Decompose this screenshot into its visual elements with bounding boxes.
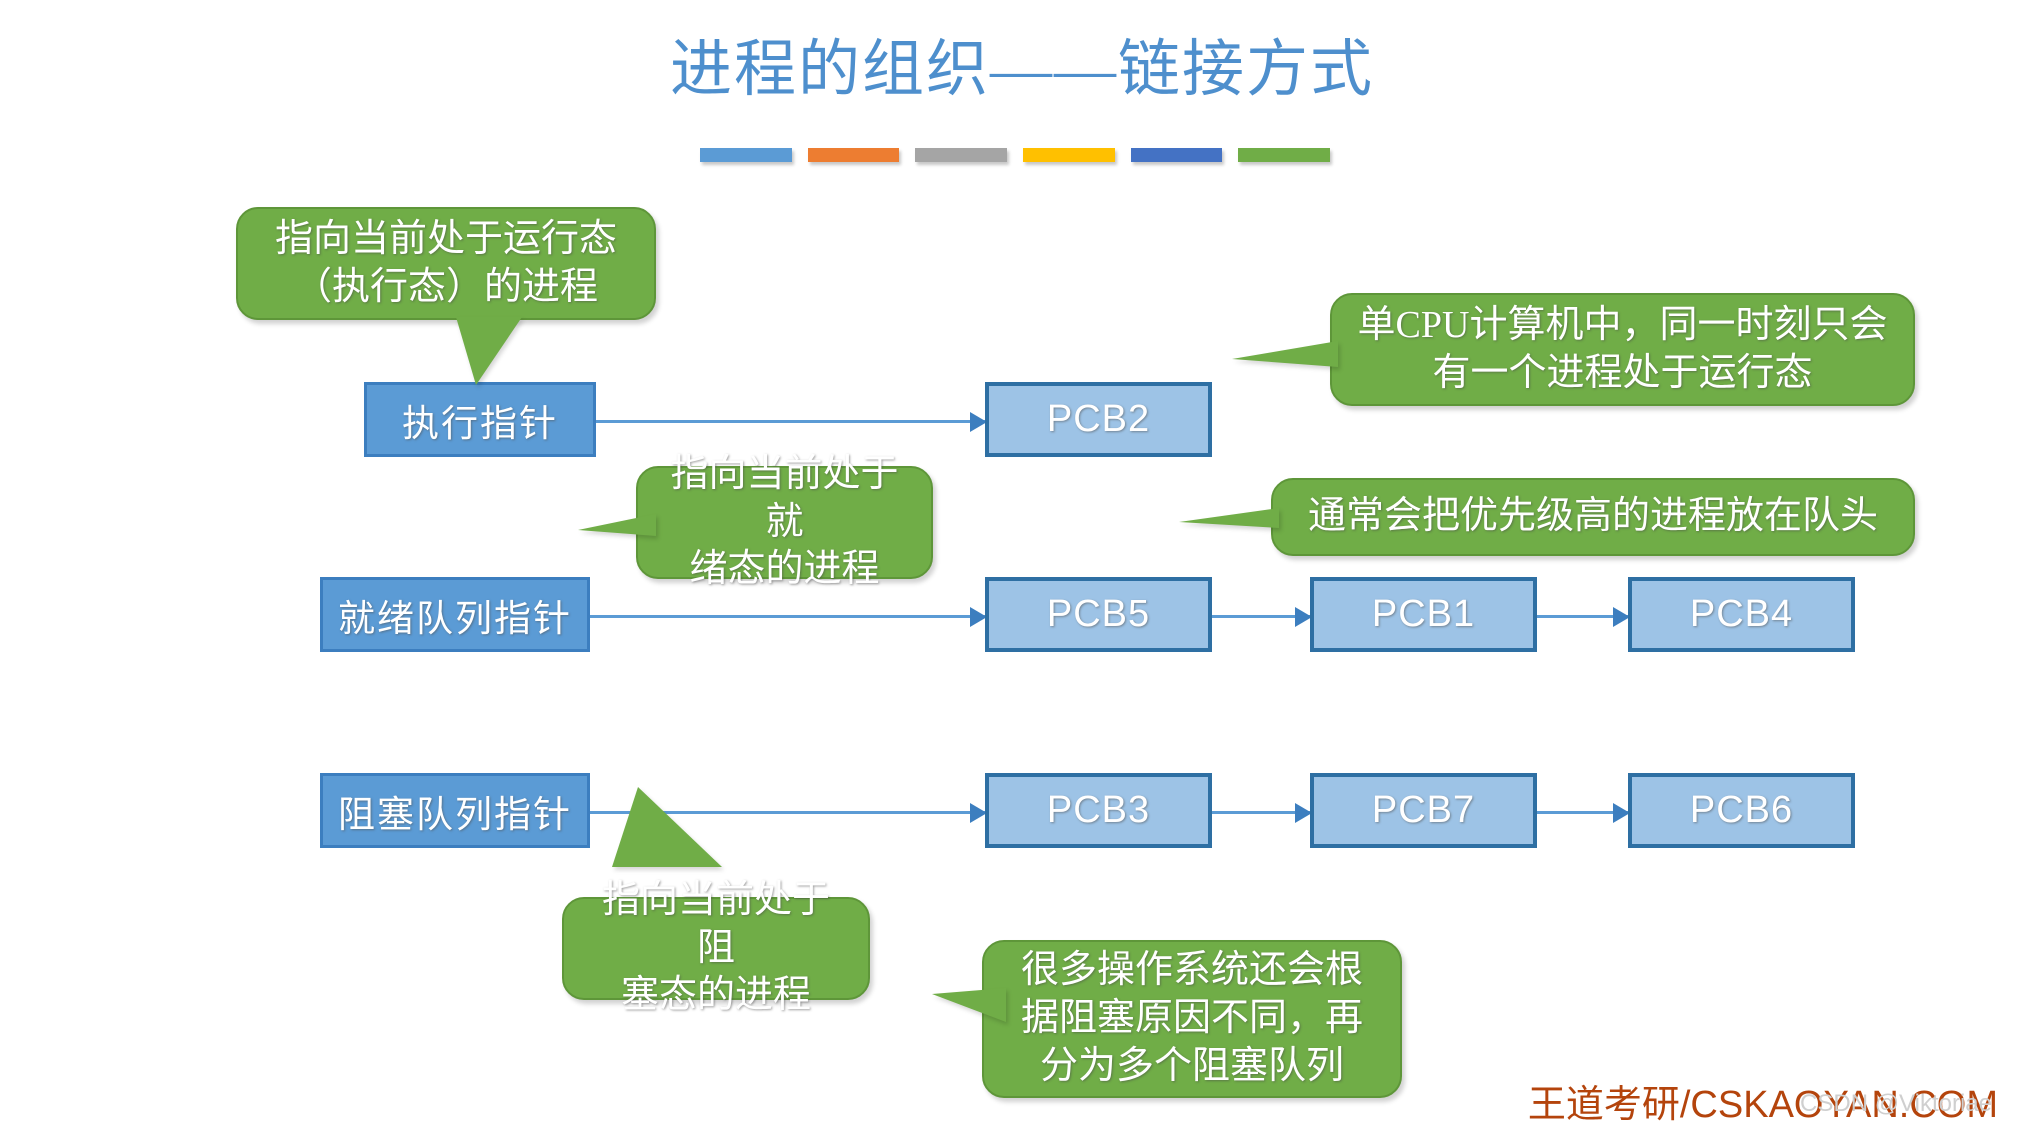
callout-blocked-pointer-bubble: 指向当前处于阻 塞态的进程 [562, 897, 870, 1000]
arrow-pcb5-to-pcb1 [1212, 615, 1310, 618]
arrow-pcb1-to-pcb4 [1537, 615, 1628, 618]
pcb-box-pcb5[interactable]: PCB5 [985, 577, 1212, 652]
callout-single-cpu-bubble: 单CPU计算机中，同一时刻只会 有一个进程处于运行态 [1330, 293, 1915, 406]
callout-priority-head-text: 通常会把优先级高的进程放在队头 [1308, 493, 1878, 541]
callout-multi-blocked-queues-note[interactable]: 很多操作系统还会根 据阻塞原因不同，再 分为多个阻塞队列 [940, 940, 1360, 1098]
callout-single-cpu-tail [1232, 341, 1338, 367]
callout-running-pointer-bubble: 指向当前处于运行态 （执行态）的进程 [236, 207, 656, 320]
title-rule-seg-dark-blue [1131, 148, 1223, 162]
callout-ready-pointer-tail [578, 514, 656, 536]
callout-multi-blocked-queues-tail [932, 988, 1006, 1022]
arrow-pcb7-to-pcb6 [1537, 811, 1628, 814]
pointer-box-blocked[interactable]: 阻塞队列指针 [320, 773, 590, 848]
callout-priority-head-bubble: 通常会把优先级高的进程放在队头 [1271, 478, 1915, 556]
pcb-box-pcb6[interactable]: PCB6 [1628, 773, 1855, 848]
pcb-box-pcb4[interactable]: PCB4 [1628, 577, 1855, 652]
arrow-running-to-pcb2 [596, 420, 985, 423]
callout-blocked-pointer-note[interactable]: 指向当前处于阻 塞态的进程 [562, 855, 870, 1000]
callout-priority-head-note[interactable]: 通常会把优先级高的进程放在队头 [1245, 478, 1889, 556]
callout-ready-pointer-text: 指向当前处于就 绪态的进程 [658, 451, 911, 595]
callout-ready-pointer-bubble: 指向当前处于就 绪态的进程 [636, 466, 933, 579]
callout-multi-blocked-queues-bubble: 很多操作系统还会根 据阻塞原因不同，再 分为多个阻塞队列 [982, 940, 1402, 1098]
slide-canvas: 进程的组织——链接方式 执行指针 PCB2 就绪队列指针 PCB5 PCB1 P… [0, 0, 2044, 1142]
title-rule-bars [700, 148, 1330, 162]
title-rule-seg-blue [700, 148, 792, 162]
pointer-box-running[interactable]: 执行指针 [364, 382, 596, 457]
arrow-ready-to-pcb5 [590, 615, 985, 618]
title-rule-seg-yellow [1023, 148, 1115, 162]
callout-running-pointer-note[interactable]: 指向当前处于运行态 （执行态）的进程 [236, 207, 656, 320]
pointer-box-ready[interactable]: 就绪队列指针 [320, 577, 590, 652]
title-rule-seg-gray [915, 148, 1007, 162]
pcb-box-pcb1[interactable]: PCB1 [1310, 577, 1537, 652]
callout-priority-head-tail [1179, 508, 1279, 528]
page-title: 进程的组织——链接方式 [0, 38, 2044, 103]
callout-multi-blocked-queues-text: 很多操作系统还会根 据阻塞原因不同，再 分为多个阻塞队列 [1021, 947, 1363, 1091]
csdn-watermark: CSDN @Viktoriae [1800, 1090, 1992, 1118]
title-rule-seg-green [1238, 148, 1330, 162]
callout-blocked-pointer-text: 指向当前处于阻 塞态的进程 [584, 877, 848, 1021]
callout-running-pointer-tail [456, 317, 522, 385]
pcb-box-pcb7[interactable]: PCB7 [1310, 773, 1537, 848]
title-rule-seg-orange [808, 148, 900, 162]
arrow-pcb3-to-pcb7 [1212, 811, 1310, 814]
callout-blocked-pointer-tail [612, 787, 722, 867]
pcb-box-pcb2[interactable]: PCB2 [985, 382, 1212, 457]
pcb-box-pcb3[interactable]: PCB3 [985, 773, 1212, 848]
callout-single-cpu-note[interactable]: 单CPU计算机中，同一时刻只会 有一个进程处于运行态 [1300, 293, 1885, 406]
callout-single-cpu-text: 单CPU计算机中，同一时刻只会 有一个进程处于运行态 [1358, 302, 1888, 398]
callout-running-pointer-text: 指向当前处于运行态 （执行态）的进程 [275, 216, 617, 312]
callout-ready-pointer-note[interactable]: 指向当前处于就 绪态的进程 [600, 466, 897, 579]
